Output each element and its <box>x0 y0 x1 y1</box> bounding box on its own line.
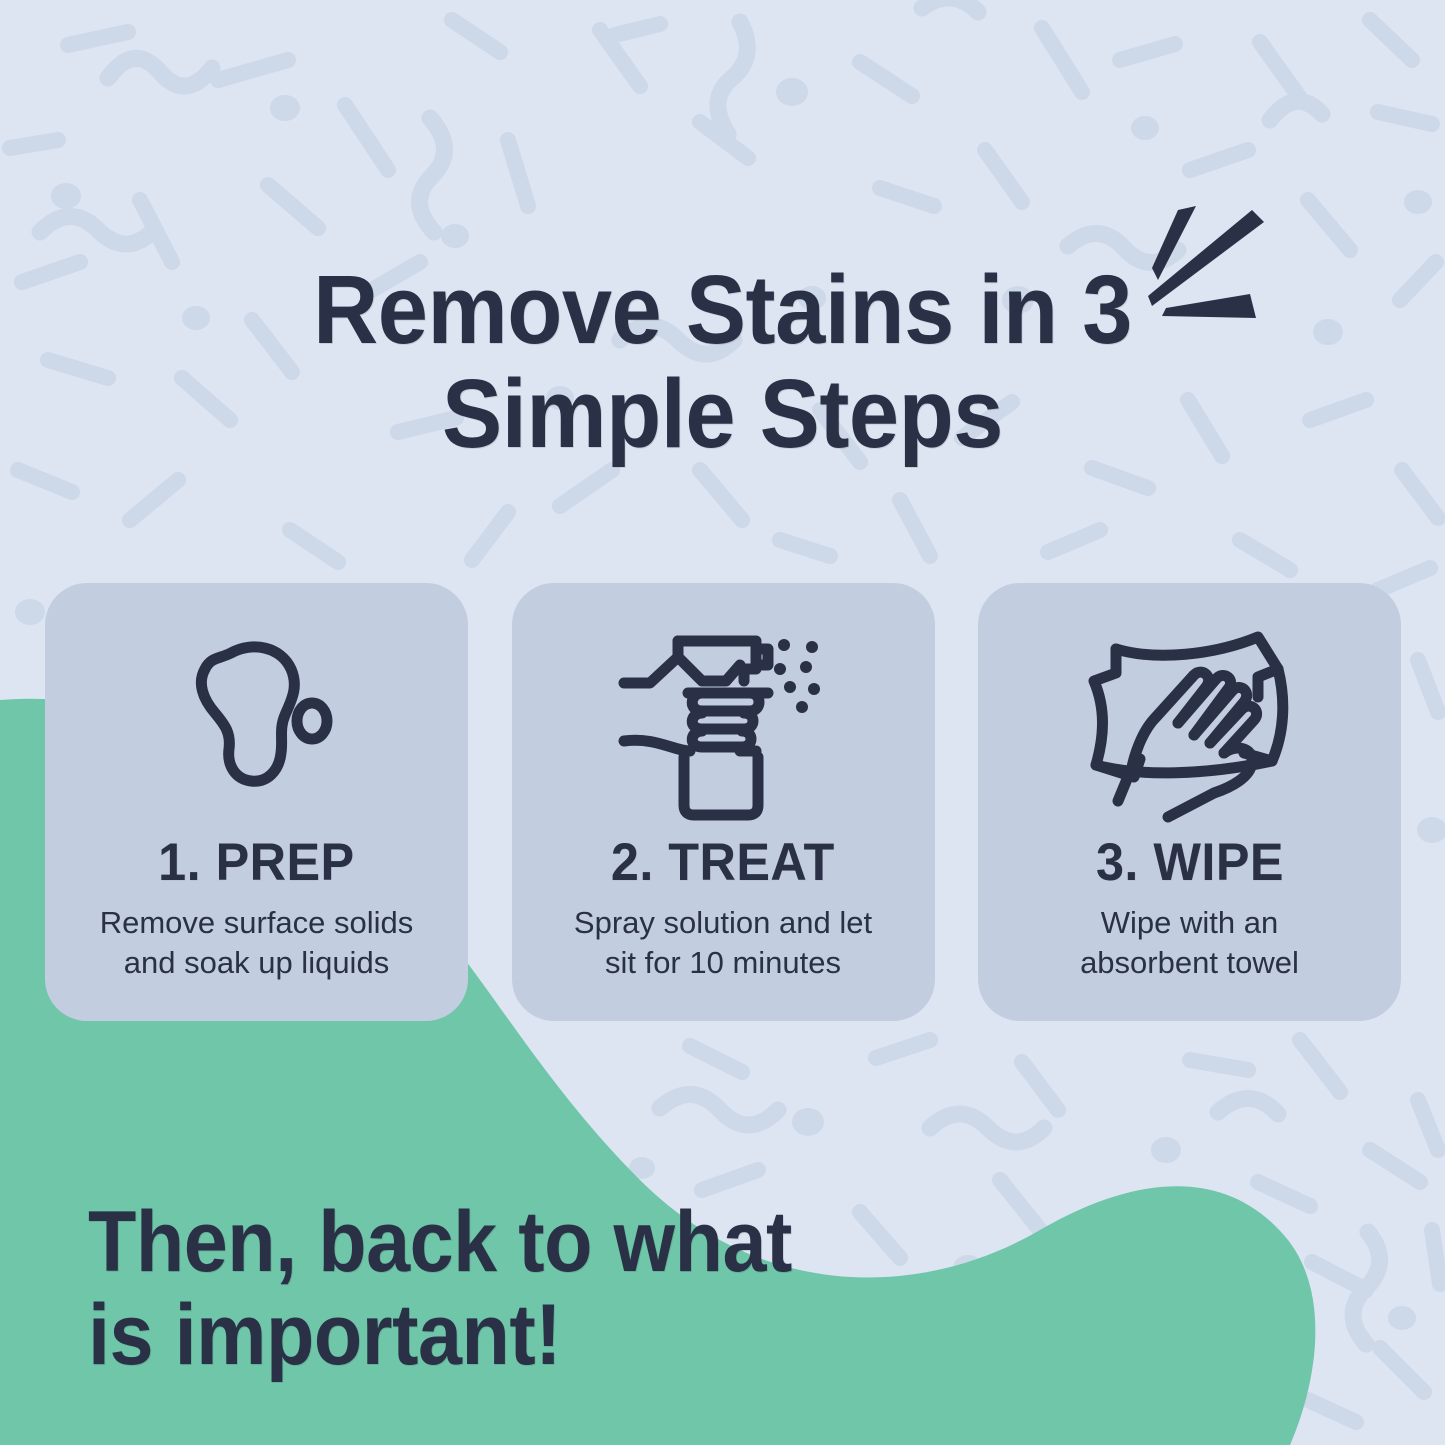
tagline-line-1: Then, back to what <box>88 1196 916 1289</box>
step-title: 3. WIPE <box>1095 835 1283 891</box>
step-card-prep[interactable]: 1. PREP Remove surface solids and soak u… <box>45 583 468 1021</box>
infographic-poster: Remove Stains in 3 Simple Steps 1. PREP <box>0 0 1445 1445</box>
step-description-line-1: Spray solution and let <box>574 905 872 940</box>
tagline: Then, back to what is important! <box>88 1196 988 1382</box>
step-title: 2. TREAT <box>611 835 835 891</box>
step-description: Remove surface solids and soak up liquid… <box>100 903 414 983</box>
sparkle-burst-icon <box>1130 196 1310 356</box>
step-description-line-2: and soak up liquids <box>124 945 389 980</box>
wipe-cloth-icon <box>1082 619 1298 831</box>
step-card-wipe[interactable]: 3. WIPE Wipe with an absorbent towel <box>978 583 1401 1021</box>
step-description-line-2: absorbent towel <box>1080 945 1299 980</box>
spill-stain-icon <box>157 619 357 831</box>
step-description-line-1: Remove surface solids <box>100 905 414 940</box>
spray-bottle-icon <box>616 619 830 831</box>
step-card-treat[interactable]: 2. TREAT Spray solution and let sit for … <box>512 583 935 1021</box>
step-description: Spray solution and let sit for 10 minute… <box>574 903 872 983</box>
step-description-line-2: sit for 10 minutes <box>605 945 841 980</box>
tagline-line-2: is important! <box>88 1289 916 1382</box>
steps-row: 1. PREP Remove surface solids and soak u… <box>45 583 1401 1023</box>
step-title: 1. PREP <box>158 835 354 891</box>
step-description-line-1: Wipe with an <box>1101 905 1278 940</box>
step-description: Wipe with an absorbent towel <box>1080 903 1299 983</box>
